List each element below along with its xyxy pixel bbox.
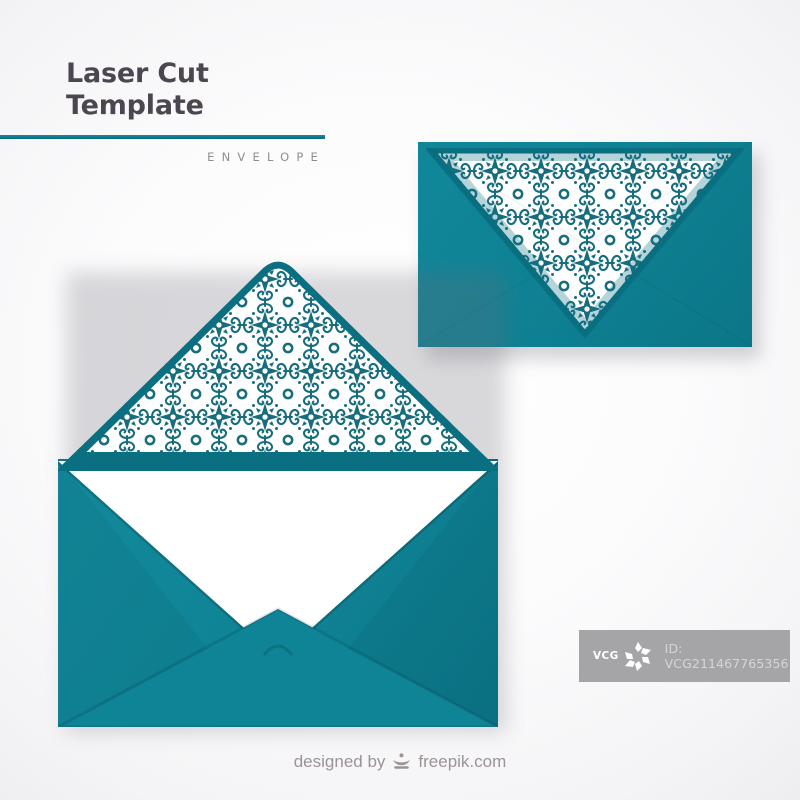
open-flap-lace-svg <box>58 256 498 471</box>
header-block: Laser Cut Template ENVELOPE <box>0 58 340 164</box>
open-envelope <box>58 256 498 727</box>
open-envelope-front-panels <box>58 459 498 727</box>
watermark-id: ID: VCG211467765356 <box>665 641 790 671</box>
page-title: Laser Cut Template <box>0 58 340 123</box>
watermark-badge: VCG ID: VCG211467765356 <box>579 630 790 682</box>
page-subtitle: ENVELOPE <box>0 150 325 164</box>
vcg-burst-icon <box>621 639 655 673</box>
freepik-crown-icon <box>391 753 412 771</box>
title-underline-rule <box>0 135 325 139</box>
credit-brand: freepik.com <box>418 752 506 772</box>
poster-canvas: Laser Cut Template ENVELOPE <box>0 0 800 800</box>
credit-prefix: designed by <box>294 752 386 772</box>
vcg-wordmark: VCG <box>593 650 619 662</box>
vcg-logo: VCG <box>579 639 655 673</box>
open-envelope-flap <box>58 256 498 471</box>
freepik-credit: designed by freepik.com <box>0 752 800 772</box>
